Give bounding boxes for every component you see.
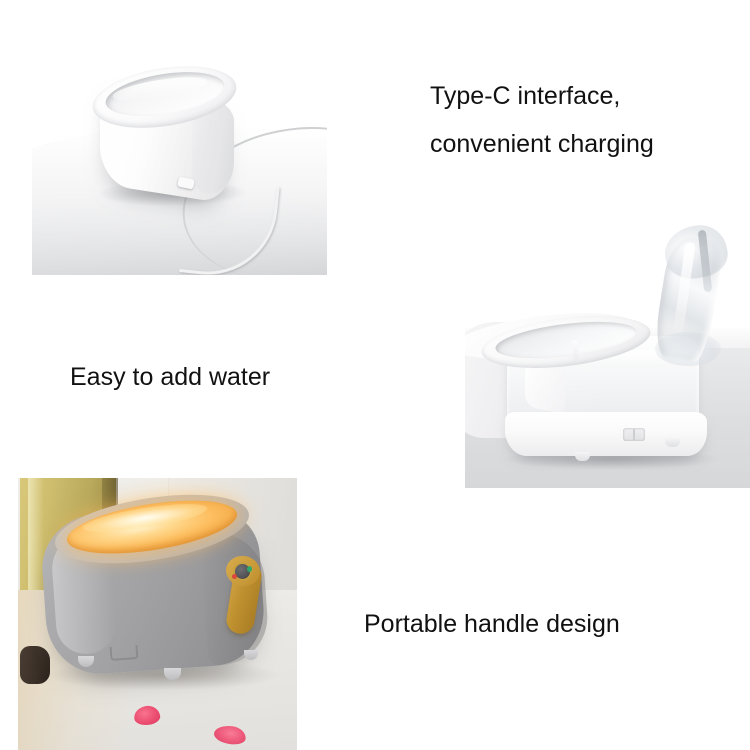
indicator-light-green [247, 566, 252, 572]
indicator-light-red [232, 574, 237, 579]
caption-portable-handle-design: Portable handle design [364, 610, 620, 639]
humidifier-foot [665, 438, 680, 447]
caption-type-c-line2: convenient charging [430, 120, 654, 168]
power-button [623, 428, 645, 441]
product-infographic-page: Type-C interface, convenient charging Ea… [0, 0, 750, 750]
caption-type-c-interface: Type-C interface, convenient charging [430, 72, 654, 168]
caption-type-c-line1: Type-C interface, [430, 72, 654, 120]
photo-portable-handle [18, 478, 297, 750]
dark-object [20, 646, 50, 684]
humidifier-foot [575, 452, 590, 461]
photo-add-water [465, 200, 750, 488]
humidifier-base [505, 412, 707, 456]
caption-easy-to-add-water: Easy to add water [70, 363, 270, 392]
front-vent-slot [110, 645, 139, 661]
photo-charging [32, 62, 327, 275]
yellow-vase-highlight [28, 478, 44, 598]
